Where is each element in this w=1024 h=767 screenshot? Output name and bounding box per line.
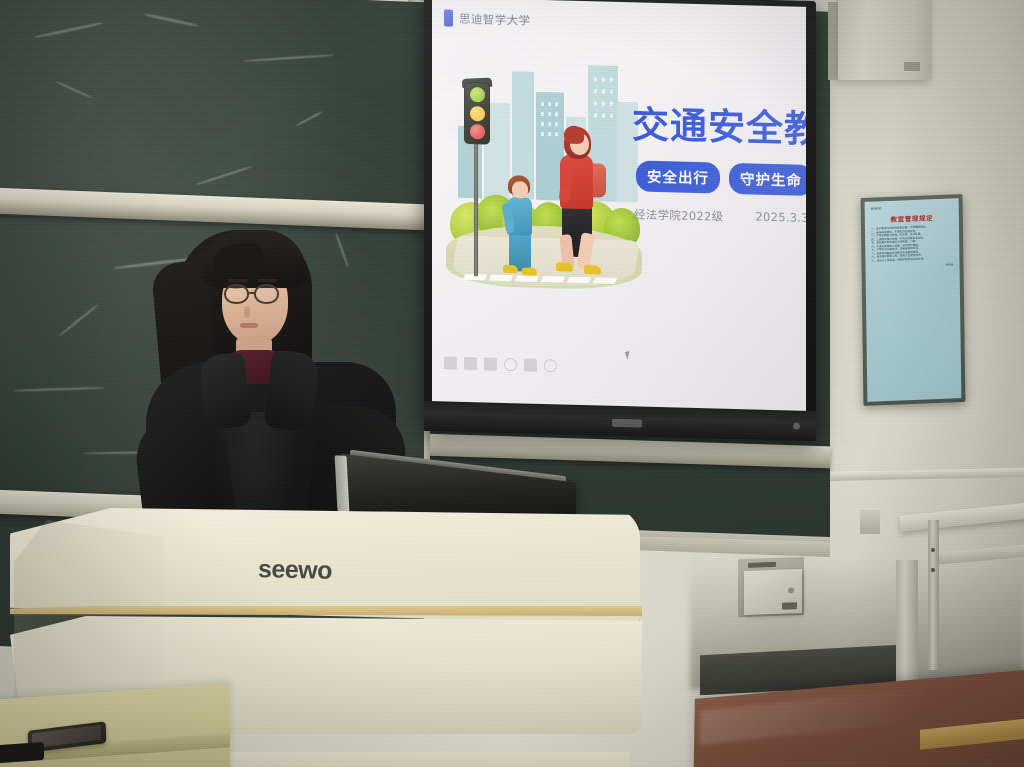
podium-brand-logo: seewo <box>258 555 333 586</box>
smartboard[interactable]: 思迪智学大学 <box>424 0 816 441</box>
taskbar-app-icon-4[interactable] <box>524 358 537 371</box>
slide-date: 2025.3.3 <box>755 210 806 227</box>
notice-corner-label: 管理规定 <box>871 203 953 210</box>
slide-logo-text: 思迪智学大学 <box>459 10 530 28</box>
notice-footer: 教务处 <box>872 263 954 270</box>
presentation-slide: 思迪智学大学 <box>432 0 806 413</box>
electrical-panel <box>738 557 808 621</box>
smartboard-screen[interactable]: 思迪智学大学 <box>432 0 806 413</box>
brand-mark-icon <box>444 9 453 26</box>
woman-shoe-right <box>584 265 601 274</box>
glasses-lens-left <box>224 284 249 304</box>
presenter-brow-right <box>258 279 277 282</box>
shelf-bracket <box>860 510 880 534</box>
glasses-lens-right <box>254 284 279 304</box>
glasses-icon <box>224 284 286 304</box>
woman-hair-front <box>564 126 584 145</box>
badge-safe-travel: 安全出行 <box>636 160 720 193</box>
traffic-light-red <box>470 124 485 139</box>
traffic-light-icon <box>464 82 490 145</box>
speaker-brand-icon <box>904 62 920 71</box>
panel-knob-icon <box>788 587 794 593</box>
taskbar-app-icon-1[interactable] <box>444 356 457 369</box>
boy-face <box>512 181 528 198</box>
crosswalk-safety-illustration <box>446 51 642 306</box>
slide-department: 经法学院2022级 <box>634 206 723 224</box>
taskbar-app-icon-3[interactable] <box>484 357 497 370</box>
taskbar-circle-icon-1[interactable] <box>504 358 517 371</box>
classroom-photo: 思迪智学大学 <box>0 0 1024 767</box>
slide-meta: 经法学院2022级 2025.3.3 <box>634 206 806 227</box>
boy-shoe-left <box>503 265 518 273</box>
presenter-brow-left <box>228 279 247 282</box>
woman-shoe-left <box>556 262 573 271</box>
taskbar-app-icon-2[interactable] <box>464 357 477 370</box>
notice-heading: 教室管理规定 <box>871 211 953 224</box>
badge-protect-life: 守护生命 <box>729 163 806 196</box>
presenter-lips <box>240 323 258 328</box>
shelf-support-leg <box>928 520 939 670</box>
traffic-light-green <box>470 87 485 102</box>
panel-door <box>744 569 802 615</box>
taskbar-circle-icon-2[interactable] <box>544 359 557 372</box>
boy-shoe-right <box>522 267 537 275</box>
smartboard-logo <box>612 419 642 428</box>
panel-label <box>782 602 797 610</box>
regulation-notice-board: 管理规定 教室管理规定 一、爱护教室内的各种设施设备，不得随意搬动。 二、保持教… <box>861 194 966 406</box>
slide-logo: 思迪智学大学 <box>444 9 530 28</box>
ir-sensor-icon <box>793 423 800 430</box>
notice-board-face: 管理规定 教室管理规定 一、爱护教室内的各种设施设备，不得随意搬动。 二、保持教… <box>865 198 962 402</box>
slide-title: 交通安全教育 <box>632 94 806 154</box>
traffic-light-yellow <box>470 106 485 121</box>
panel-slot <box>748 562 776 568</box>
slide-badges: 安全出行 守护生命 <box>636 160 806 196</box>
presenter-nose <box>244 306 250 318</box>
wall-mounted-speaker <box>838 0 932 80</box>
